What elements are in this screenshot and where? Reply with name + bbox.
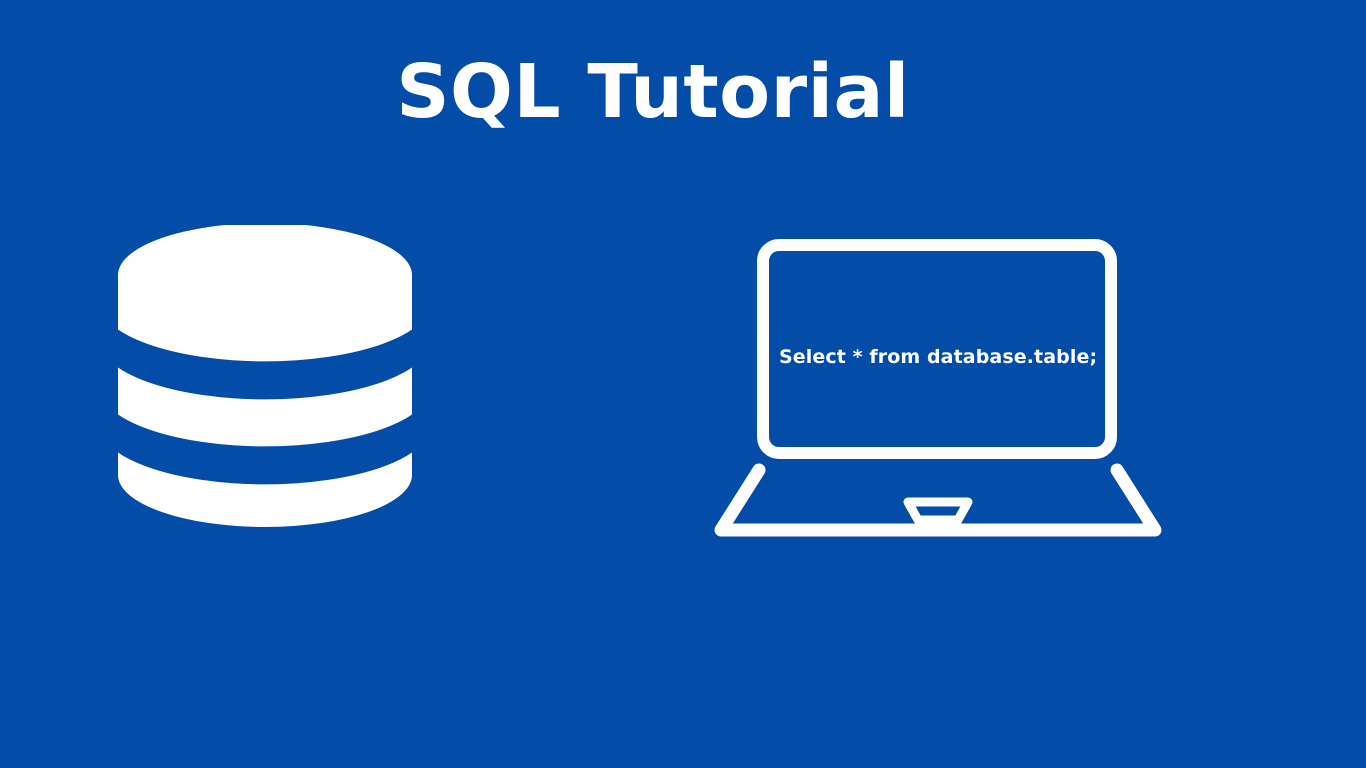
database-cylinder-icon bbox=[110, 225, 420, 545]
laptop-screen-code-text: Select * from database.table; bbox=[779, 348, 1109, 367]
laptop-svg bbox=[700, 228, 1180, 548]
slide-canvas: SQL Tutorial Sel bbox=[0, 0, 1366, 768]
database-cylinder-svg bbox=[110, 225, 420, 545]
page-title: SQL Tutorial bbox=[0, 55, 1306, 129]
trackpad-notch bbox=[908, 502, 968, 520]
laptop-illustration bbox=[700, 228, 1180, 548]
